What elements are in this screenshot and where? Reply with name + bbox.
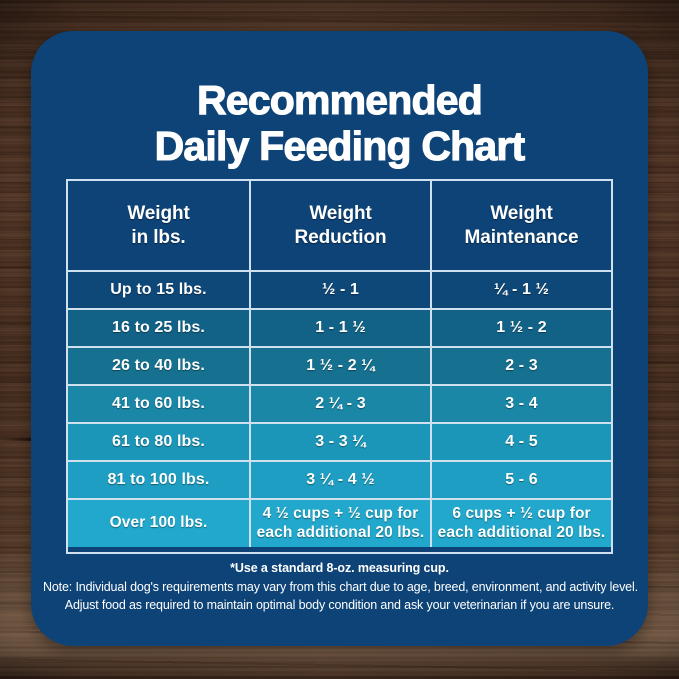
page-title-line-1: Recommended: [31, 77, 648, 123]
table-row: 16 to 25 lbs. 1 - 1 ½ 1 ½ - 2: [68, 308, 611, 346]
cell-reduction: 1 ½ - 2 ¼: [249, 348, 430, 384]
cell-maintenance: 2 - 3: [430, 348, 611, 384]
cell-maintenance: 6 cups + ½ cup for each additional 20 lb…: [430, 500, 611, 547]
cell-reduction: 1 - 1 ½: [249, 310, 430, 346]
table-row: 26 to 40 lbs. 1 ½ - 2 ¼ 2 - 3: [68, 346, 611, 384]
footnotes: *Use a standard 8-oz. measuring cup. Not…: [43, 561, 636, 615]
cell-maintenance-line-1: 6 cups + ½ cup for: [438, 505, 606, 524]
column-header-weight-lbs: Weight in lbs.: [68, 181, 249, 270]
page-title: Recommended Daily Feeding Chart: [31, 77, 648, 170]
column-header-weight-maintenance-line-1: Weight: [465, 202, 579, 226]
column-header-weight-reduction: Weight Reduction: [249, 181, 430, 270]
column-header-weight-maintenance-line-2: Maintenance: [465, 226, 579, 250]
cell-reduction: 2 ¼ - 3: [249, 386, 430, 422]
cell-maintenance-line-2: each additional 20 lbs.: [438, 524, 606, 543]
table-header-row: Weight in lbs. Weight Reduction Weight M…: [68, 181, 611, 270]
cell-weight: 26 to 40 lbs.: [68, 348, 249, 384]
table-row: 81 to 100 lbs. 3 ¼ - 4 ½ 5 - 6: [68, 460, 611, 498]
cell-reduction: 4 ½ cups + ½ cup for each additional 20 …: [249, 500, 430, 547]
cell-maintenance: ¼ - 1 ½: [430, 272, 611, 308]
cell-weight: 61 to 80 lbs.: [68, 424, 249, 460]
column-header-weight-reduction-line-2: Reduction: [295, 226, 387, 250]
cell-maintenance: 1 ½ - 2: [430, 310, 611, 346]
page-title-line-2: Daily Feeding Chart: [31, 123, 648, 169]
feeding-table: Weight in lbs. Weight Reduction Weight M…: [66, 179, 613, 554]
column-header-weight-lbs-line-1: Weight: [127, 202, 189, 226]
cell-weight: 81 to 100 lbs.: [68, 462, 249, 498]
column-header-weight-reduction-line-1: Weight: [295, 202, 387, 226]
cell-weight: Over 100 lbs.: [68, 500, 249, 547]
cell-weight: 16 to 25 lbs.: [68, 310, 249, 346]
table-row: Up to 15 lbs. ½ - 1 ¼ - 1 ½: [68, 270, 611, 308]
cell-reduction: ½ - 1: [249, 272, 430, 308]
cell-maintenance: 3 - 4: [430, 386, 611, 422]
table-row: 41 to 60 lbs. 2 ¼ - 3 3 - 4: [68, 384, 611, 422]
footnote-note-line-2: Adjust food as required to maintain opti…: [43, 597, 636, 615]
footnote-note-line-1: Note: Individual dog's requirements may …: [43, 579, 636, 597]
table-row: 61 to 80 lbs. 3 - 3 ¼ 4 - 5: [68, 422, 611, 460]
feeding-chart-card: Recommended Daily Feeding Chart Weight i…: [31, 31, 648, 646]
column-header-weight-maintenance: Weight Maintenance: [430, 181, 611, 270]
table-row-over-100: Over 100 lbs. 4 ½ cups + ½ cup for each …: [68, 498, 611, 547]
cell-reduction: 3 - 3 ¼: [249, 424, 430, 460]
column-header-weight-lbs-line-2: in lbs.: [127, 226, 189, 250]
cell-reduction-line-1: 4 ½ cups + ½ cup for: [257, 505, 425, 524]
cell-reduction: 3 ¼ - 4 ½: [249, 462, 430, 498]
cell-maintenance: 4 - 5: [430, 424, 611, 460]
cell-reduction-line-2: each additional 20 lbs.: [257, 524, 425, 543]
cell-weight: 41 to 60 lbs.: [68, 386, 249, 422]
footnote-measuring-cup: *Use a standard 8-oz. measuring cup.: [43, 561, 636, 575]
cell-maintenance: 5 - 6: [430, 462, 611, 498]
cell-weight: Up to 15 lbs.: [68, 272, 249, 308]
